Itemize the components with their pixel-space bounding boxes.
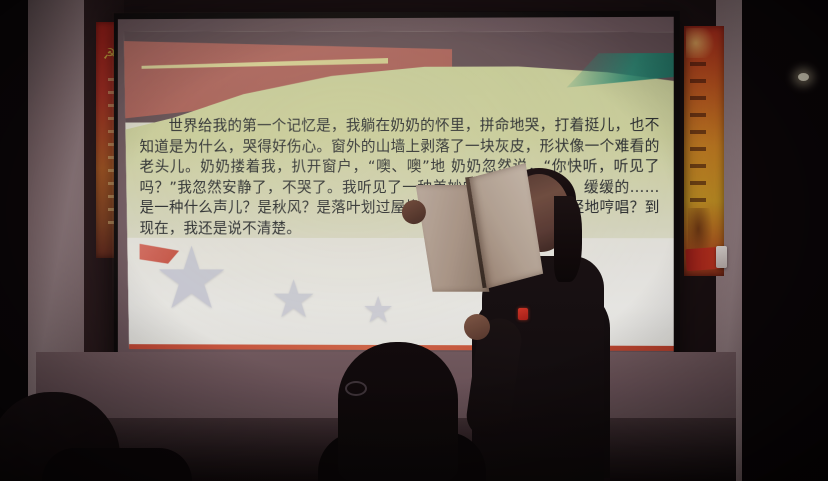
- presenter-red-badge: [518, 308, 528, 320]
- open-book: [415, 166, 544, 300]
- ceiling-spotlight-icon: [798, 73, 809, 81]
- presenter-hand-lower: [464, 314, 490, 340]
- audience-left-shoulders: [42, 448, 192, 481]
- poster-swirl-decoration: [686, 28, 718, 58]
- star-small-icon: ★: [362, 292, 394, 328]
- audience-head-center: [338, 342, 458, 481]
- star-medium-icon: ★: [270, 274, 316, 326]
- glasses-icon: [345, 381, 367, 396]
- presenter-reading-aloud: [470, 168, 610, 481]
- right-dark-wall: [742, 0, 828, 481]
- presenter-hair-side: [554, 196, 582, 282]
- classroom-presentation-photo: ☭ ★ ★ ★: [0, 0, 828, 481]
- light-switch[interactable]: [716, 246, 727, 268]
- red-gold-banner-poster: [684, 26, 724, 276]
- poster-text-column: [690, 62, 706, 212]
